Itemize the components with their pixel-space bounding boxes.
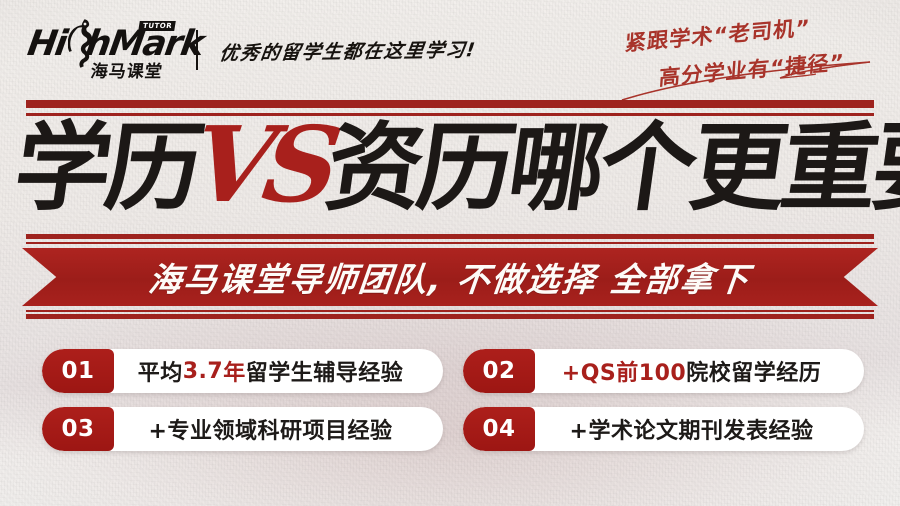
feature-text-mid: 年 bbox=[223, 355, 246, 387]
feature-text-post: 院校留学经历 bbox=[686, 355, 821, 387]
ribbon-banner: 海马课堂导师团队, 不做选择 全部拿下 bbox=[0, 232, 900, 320]
ribbon-rule-top-thin bbox=[26, 242, 874, 244]
poster-canvas: HihMark TUTOR 海马课堂 优秀的留学生都在这里学习! 紧跟学术“老司… bbox=[0, 0, 900, 506]
highmark-logo[interactable]: HihMark TUTOR 海马课堂 bbox=[28, 22, 178, 78]
tutor-badge: TUTOR bbox=[138, 21, 176, 31]
feature-number-badge: 03 bbox=[42, 407, 114, 451]
ribbon-rule-bottom-thin bbox=[26, 310, 874, 312]
feature-text-pre: +专业领域科研项目经验 bbox=[149, 413, 393, 445]
seahorse-icon bbox=[68, 18, 94, 68]
ribbon-text: 海马课堂导师团队, 不做选择 全部拿下 bbox=[147, 253, 754, 301]
headline-right: 资历哪个更重要 bbox=[320, 112, 900, 224]
feature-pill-03[interactable]: 03 +专业领域科研项目经验 bbox=[42, 407, 443, 451]
ribbon-rule-top-thick bbox=[26, 234, 874, 239]
feature-number-badge: 02 bbox=[463, 349, 535, 393]
page-title: 学历VS资历哪个更重要 bbox=[9, 113, 900, 217]
feature-text-highlight: +QS前100 bbox=[562, 355, 686, 387]
feature-text-post: 留学生辅导经验 bbox=[246, 355, 404, 387]
slogan-swoosh-icon bbox=[620, 60, 880, 102]
feature-number-badge: 01 bbox=[42, 349, 114, 393]
ribbon-rule-bottom-thick bbox=[26, 314, 874, 319]
feature-pill-01[interactable]: 01 平均3.7年留学生辅导经验 bbox=[42, 349, 443, 393]
feature-text-pre: +学术论文期刊发表经验 bbox=[570, 413, 814, 445]
feature-text-highlight: 3.7 bbox=[183, 359, 223, 384]
brand-header: HihMark TUTOR 海马课堂 优秀的留学生都在这里学习! bbox=[28, 22, 476, 78]
feature-pill-02[interactable]: 02 +QS前100院校留学经历 bbox=[463, 349, 864, 393]
headline-left: 学历 bbox=[8, 112, 206, 224]
logo-chinese-name: 海马课堂 bbox=[89, 57, 164, 82]
feature-text: +学术论文期刊发表经验 bbox=[535, 407, 864, 451]
ribbon-body: 海马课堂导师团队, 不做选择 全部拿下 bbox=[22, 248, 878, 306]
header-tagline: 优秀的留学生都在这里学习! bbox=[218, 35, 478, 66]
feature-text: 平均3.7年留学生辅导经验 bbox=[114, 349, 443, 393]
headline-rule-thick bbox=[26, 100, 874, 108]
logo-word-pre: Hi bbox=[25, 24, 69, 64]
feature-text: +专业领域科研项目经验 bbox=[114, 407, 443, 451]
feature-number-badge: 04 bbox=[463, 407, 535, 451]
feature-text-pre: 平均 bbox=[138, 355, 183, 387]
feature-list: 01 平均3.7年留学生辅导经验 02 +QS前100院校留学经历 03 +专业… bbox=[42, 349, 864, 451]
feature-text: +QS前100院校留学经历 bbox=[535, 349, 864, 393]
headline-vs: VS bbox=[185, 103, 338, 226]
feature-pill-04[interactable]: 04 +学术论文期刊发表经验 bbox=[463, 407, 864, 451]
